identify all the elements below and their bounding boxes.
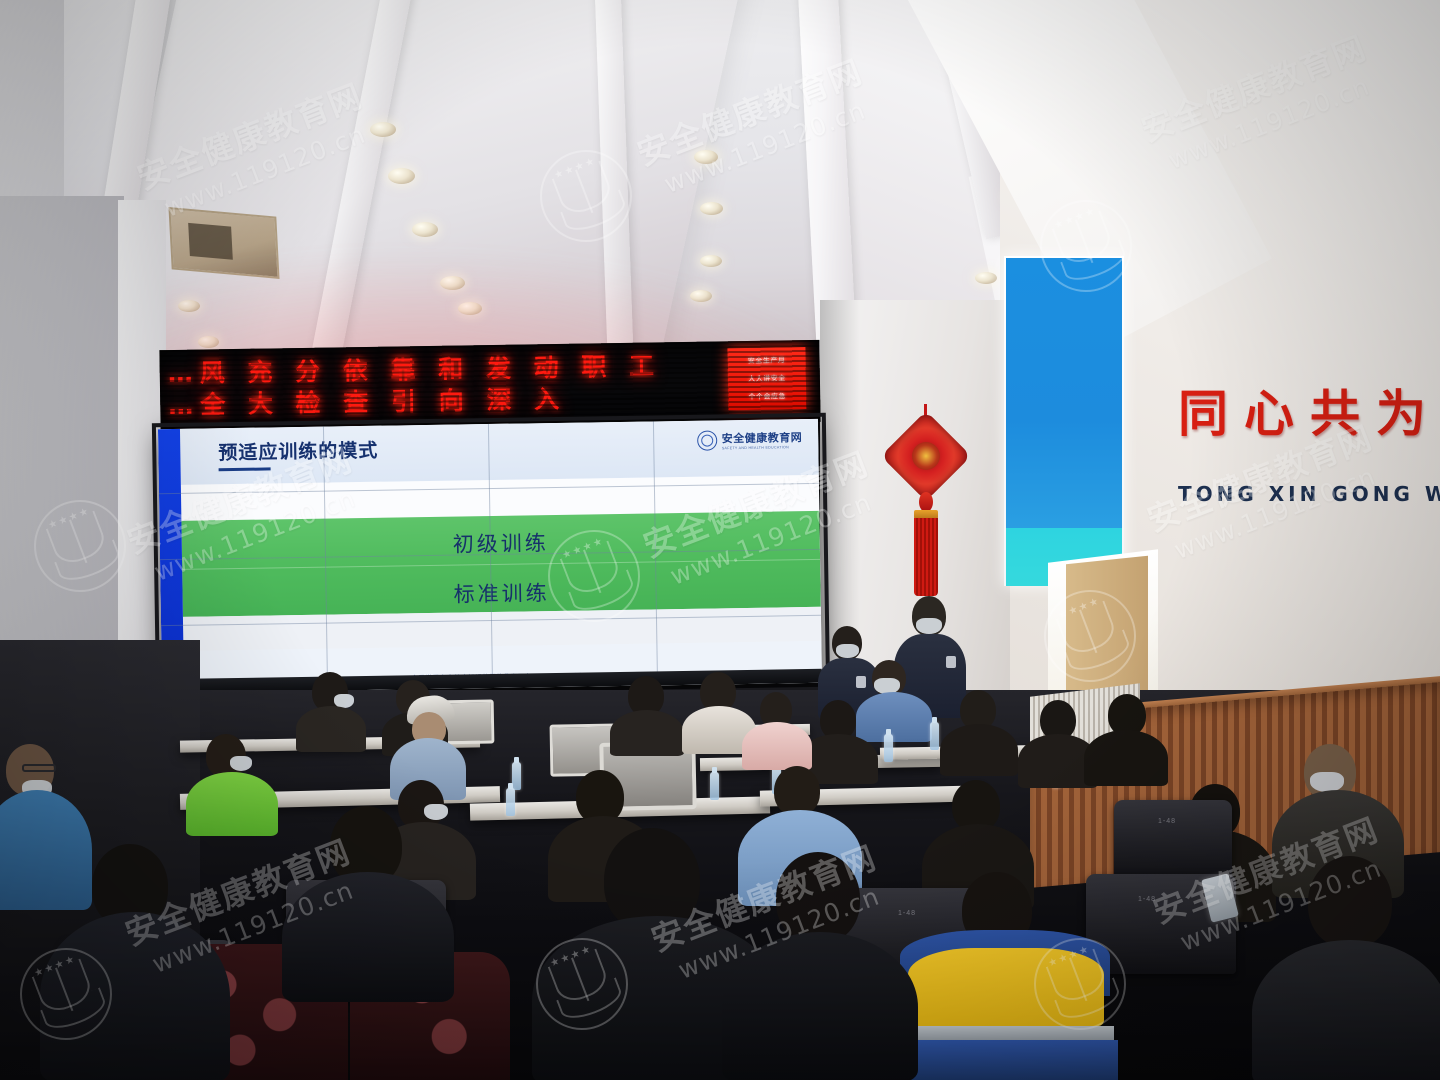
slide-item-standard-training: 标准训练 bbox=[182, 573, 820, 613]
downlight-icon bbox=[700, 202, 723, 215]
torso bbox=[742, 722, 812, 770]
slide-logo-text: 安全健康教育网 SAFETY AND HEALTH EDUCATION bbox=[722, 429, 803, 451]
led-side-line-1: 安全生产月 bbox=[727, 347, 805, 366]
slide-logo: 安全健康教育网 SAFETY AND HEALTH EDUCATION bbox=[697, 429, 803, 451]
chinese-knot-decoration bbox=[886, 404, 966, 604]
downlight-icon bbox=[975, 272, 997, 284]
knot-body bbox=[881, 411, 972, 502]
face-mask bbox=[916, 618, 942, 634]
auditorium-chair: 1-48 bbox=[1114, 800, 1232, 882]
slide-title: 预适应训练的模式 bbox=[218, 436, 378, 466]
led-banner-line-2: …全 大 检 查 引 向 深 入 bbox=[168, 377, 728, 422]
chair-brand-label: 1-48 bbox=[1138, 896, 1156, 903]
water-bottle bbox=[930, 722, 939, 750]
hivis-jacket bbox=[908, 948, 1104, 1026]
head bbox=[774, 766, 820, 816]
knot-tassel bbox=[914, 518, 938, 596]
led-side-line-2: 人人讲安全 bbox=[728, 365, 806, 384]
torso bbox=[856, 692, 932, 742]
head bbox=[1308, 856, 1392, 948]
window-shade-upper bbox=[1006, 258, 1122, 528]
presentation-video-wall: 预适应训练的模式 安全健康教育网 SAFETY AND HEALTH EDUCA… bbox=[158, 419, 822, 693]
torso bbox=[186, 772, 278, 836]
wall-slogan-chinese: 同心共为 专 bbox=[1178, 374, 1440, 446]
jacket-lower bbox=[898, 1040, 1118, 1080]
shield-emblem-icon bbox=[697, 431, 717, 451]
wall-slogan-pinyin: TONG XIN GONG WEI ZHUAN bbox=[1178, 482, 1440, 506]
downlight-icon bbox=[370, 122, 396, 137]
face-mask bbox=[424, 804, 448, 820]
torso bbox=[1252, 940, 1440, 1080]
water-bottle bbox=[710, 772, 719, 800]
water-bottle bbox=[506, 788, 515, 816]
torso bbox=[940, 724, 1018, 776]
downlight-icon bbox=[412, 222, 438, 237]
chair-brand-label: 1-48 bbox=[1158, 818, 1176, 825]
downlight-icon bbox=[694, 150, 718, 164]
led-side-line-3: 个个会应急 bbox=[728, 383, 806, 402]
torso bbox=[1084, 730, 1168, 786]
water-bottle bbox=[512, 762, 521, 790]
vest-badge bbox=[946, 656, 956, 668]
face-mask bbox=[836, 644, 859, 658]
water-bottle bbox=[884, 734, 893, 762]
led-scrolling-banner: …风 充 分 依 靠 和 发 动 职 工 …全 大 检 查 引 向 深 入 安全… bbox=[159, 340, 820, 432]
torso bbox=[296, 706, 366, 752]
face-mask bbox=[1310, 772, 1344, 792]
torso bbox=[282, 872, 454, 1002]
slide-green-band: 初级训练 标准训练 bbox=[181, 511, 820, 617]
downlight-icon bbox=[388, 168, 415, 184]
eyeglasses bbox=[22, 764, 56, 772]
vest-badge bbox=[856, 676, 866, 688]
torso bbox=[610, 710, 684, 756]
photo-scene: 同心共为 专 TONG XIN GONG WEI ZHUAN …风 充 分 依 … bbox=[0, 0, 1440, 1080]
knot-bead bbox=[919, 492, 933, 512]
face-mask bbox=[230, 756, 252, 771]
head bbox=[776, 852, 860, 944]
chair-brand-label: 1-48 bbox=[898, 910, 916, 917]
torso bbox=[40, 912, 230, 1080]
slide-logo-chinese: 安全健康教育网 bbox=[722, 431, 803, 445]
torso bbox=[722, 932, 918, 1080]
led-banner-side-block: 安全生产月 人人讲安全 个个会应急 bbox=[727, 347, 806, 410]
slide-body: 预适应训练的模式 安全健康教育网 SAFETY AND HEALTH EDUCA… bbox=[180, 419, 822, 693]
